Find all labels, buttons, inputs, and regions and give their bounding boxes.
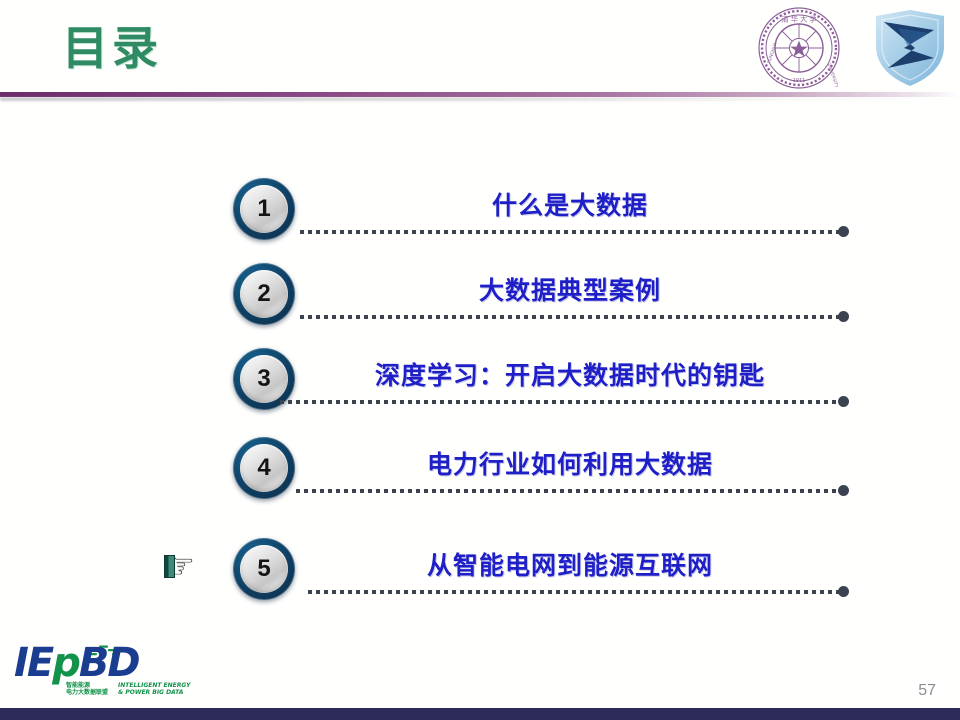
iepbd-subtitle-cn: 智能能源 电力大数据联盟	[66, 682, 108, 696]
iepbd-logo: IEpBD 智能能源 电力大数据联盟 INTELLIGENT ENERGY & …	[14, 640, 174, 702]
svg-text:清 华 大 学: 清 华 大 学	[782, 15, 817, 24]
footer-bar	[0, 708, 960, 720]
toc-leader-end-dot	[838, 311, 849, 322]
toc-leader-line	[300, 315, 840, 319]
toc-item-label: 从智能电网到能源互联网	[330, 546, 810, 582]
toc-leader-end-dot	[838, 396, 849, 407]
toc-item-label: 电力行业如何利用大数据	[330, 445, 810, 481]
toc-leader-end-dot	[838, 226, 849, 237]
header-divider-shadow	[0, 97, 960, 101]
toc-item-label: 大数据典型案例	[330, 271, 810, 307]
toc-leader-line	[296, 489, 840, 493]
iepbd-mark-ie: IE	[14, 640, 52, 686]
page-title: 目录	[62, 12, 162, 78]
iepbd-mark-p: p	[52, 640, 79, 686]
list-item[interactable]: 1 什么是大数据	[0, 160, 960, 250]
iepbd-subtitle-en: INTELLIGENT ENERGY & POWER BIG DATA	[118, 682, 190, 696]
iepbd-subtitle-cn-line1: 智能能源	[66, 682, 108, 689]
list-item[interactable]: 3 深度学习：开启大数据时代的钥匙	[0, 330, 960, 420]
iepbd-wordmark: IEpBD	[14, 640, 139, 686]
toc-leader-line	[308, 590, 840, 594]
svg-text:UNIVERSITY: UNIVERSITY	[827, 63, 840, 89]
toc-leader-line	[280, 400, 840, 404]
toc-number-label: 1	[240, 185, 288, 233]
toc-number-label: 5	[240, 545, 288, 593]
iepbd-subtitle-en-line1: INTELLIGENT ENERGY	[118, 682, 190, 689]
pointing-hand-cuff	[164, 555, 175, 578]
toc-number-label: 2	[240, 270, 288, 318]
toc-leader-end-dot	[838, 485, 849, 496]
blue-shield-icon	[868, 6, 952, 90]
toc-item-label: 深度学习：开启大数据时代的钥匙	[330, 356, 810, 392]
list-item[interactable]: 4 电力行业如何利用大数据	[0, 419, 960, 509]
list-item[interactable]: 2 大数据典型案例	[0, 245, 960, 335]
iepbd-subtitle-en-line2: & POWER BIG DATA	[118, 689, 190, 696]
table-of-contents: 1 什么是大数据 2 大数据典型案例 3 深度学习：开启大数据时代的钥匙	[0, 150, 960, 620]
toc-number-badge: 1	[233, 178, 295, 240]
svg-text:· 1911 ·: · 1911 ·	[789, 78, 808, 84]
toc-number-label: 3	[240, 355, 288, 403]
toc-leader-line	[300, 230, 840, 234]
toc-item-label: 什么是大数据	[330, 186, 810, 222]
toc-number-badge: 2	[233, 263, 295, 325]
toc-number-badge: 4	[233, 437, 295, 499]
page-number: 57	[918, 682, 936, 700]
toc-number-badge: 5	[233, 538, 295, 600]
tsinghua-seal-icon: 清 华 大 学 · 1911 · TSINGHUA UNIVERSITY	[757, 6, 841, 90]
slide-canvas: 目录 清 华 大 学 · 1911 · TSINGHUA UNIVERSITY	[0, 0, 960, 720]
list-item[interactable]: ☞ 5 从智能电网到能源互联网	[0, 520, 960, 610]
toc-number-label: 4	[240, 444, 288, 492]
iepbd-mark-bd: BD	[79, 640, 139, 686]
toc-leader-end-dot	[838, 586, 849, 597]
iepbd-subtitle-cn-line2: 电力大数据联盟	[66, 689, 108, 696]
